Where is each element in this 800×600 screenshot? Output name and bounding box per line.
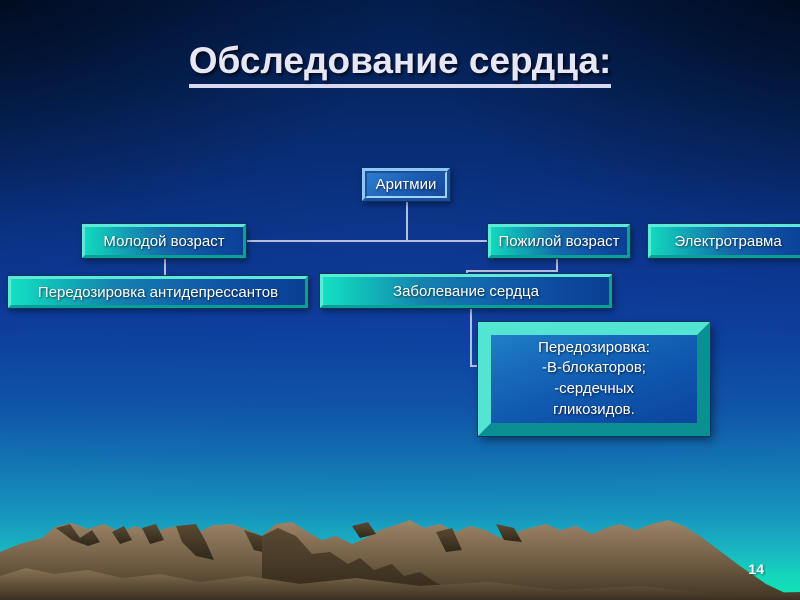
overdose-line-4: гликозидов.: [553, 400, 635, 421]
connector-elderly-left: [466, 270, 558, 272]
node-arrhythmias[interactable]: Аритмии: [362, 168, 450, 201]
connector-heart-disease-down: [470, 306, 472, 366]
node-arrhythmias-label: Аритмии: [376, 176, 437, 193]
node-heart-disease[interactable]: Заболевание сердца: [320, 274, 612, 308]
page-title-text: Обследование сердца:: [189, 40, 612, 88]
node-antidepressant-overdose-label: Передозировка антидепрессантов: [38, 284, 278, 301]
node-electric-trauma-label: Электротравма: [674, 233, 781, 250]
node-overdose-details[interactable]: Передозировка: -В-блокаторов; -сердечных…: [478, 322, 710, 436]
slide-canvas: Обследование сердца: Аритмии Молодой воз…: [0, 0, 800, 600]
node-elderly-age-label: Пожилой возраст: [498, 233, 619, 250]
node-heart-disease-label: Заболевание сердца: [393, 283, 539, 300]
node-antidepressant-overdose[interactable]: Передозировка антидепрессантов: [8, 276, 308, 308]
node-electric-trauma[interactable]: Электротравма: [648, 224, 800, 258]
connector-young-down: [164, 258, 166, 278]
mountain-decoration: [0, 480, 800, 600]
connector-age-spine: [246, 240, 488, 242]
node-young-age-label: Молодой возраст: [103, 233, 224, 250]
page-number: 14: [748, 561, 764, 577]
overdose-line-3: -сердечных: [554, 379, 634, 400]
node-elderly-age[interactable]: Пожилой возраст: [488, 224, 630, 258]
overdose-line-1: Передозировка:: [538, 338, 650, 359]
page-title: Обследование сердца:: [0, 40, 800, 82]
overdose-line-2: -В-блокаторов;: [542, 358, 646, 379]
node-young-age[interactable]: Молодой возраст: [82, 224, 246, 258]
connector-arrhythmias-down: [406, 201, 408, 240]
